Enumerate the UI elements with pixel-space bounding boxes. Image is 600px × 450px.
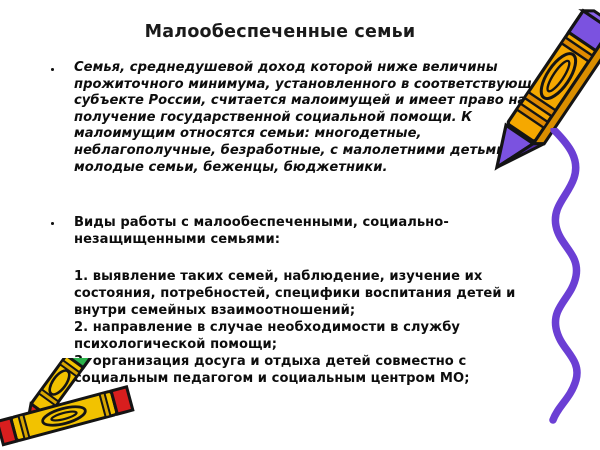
bullet-item-1: Семья, среднедушевой доход которой ниже … xyxy=(44,60,556,176)
list-item: 3. организация досуга и отдыха детей сов… xyxy=(74,353,556,387)
bullet-dot-icon xyxy=(51,222,54,225)
slide-body: Семья, среднедушевой доход которой ниже … xyxy=(44,60,556,387)
page-title: Малообеспеченные семьи xyxy=(60,22,500,42)
list-spacer xyxy=(44,248,556,268)
list-item: 2. направление в случае необходимости в … xyxy=(74,319,556,353)
paragraph-spacer xyxy=(44,176,556,214)
bullet-item-2: Виды работы с малообеспеченными, социаль… xyxy=(44,214,556,248)
list-item: 1. выявление таких семей, наблюдение, из… xyxy=(74,268,556,319)
numbered-list: 1. выявление таких семей, наблюдение, из… xyxy=(44,268,556,387)
bullet-dot-icon xyxy=(51,68,54,71)
slide-canvas: Малообеспеченные семьи Семья, среднедуше… xyxy=(0,0,600,450)
bullet-item-1-text: Семья, среднедушевой доход которой ниже … xyxy=(74,60,552,175)
bullet-item-2-text: Виды работы с малообеспеченными, социаль… xyxy=(74,215,449,247)
